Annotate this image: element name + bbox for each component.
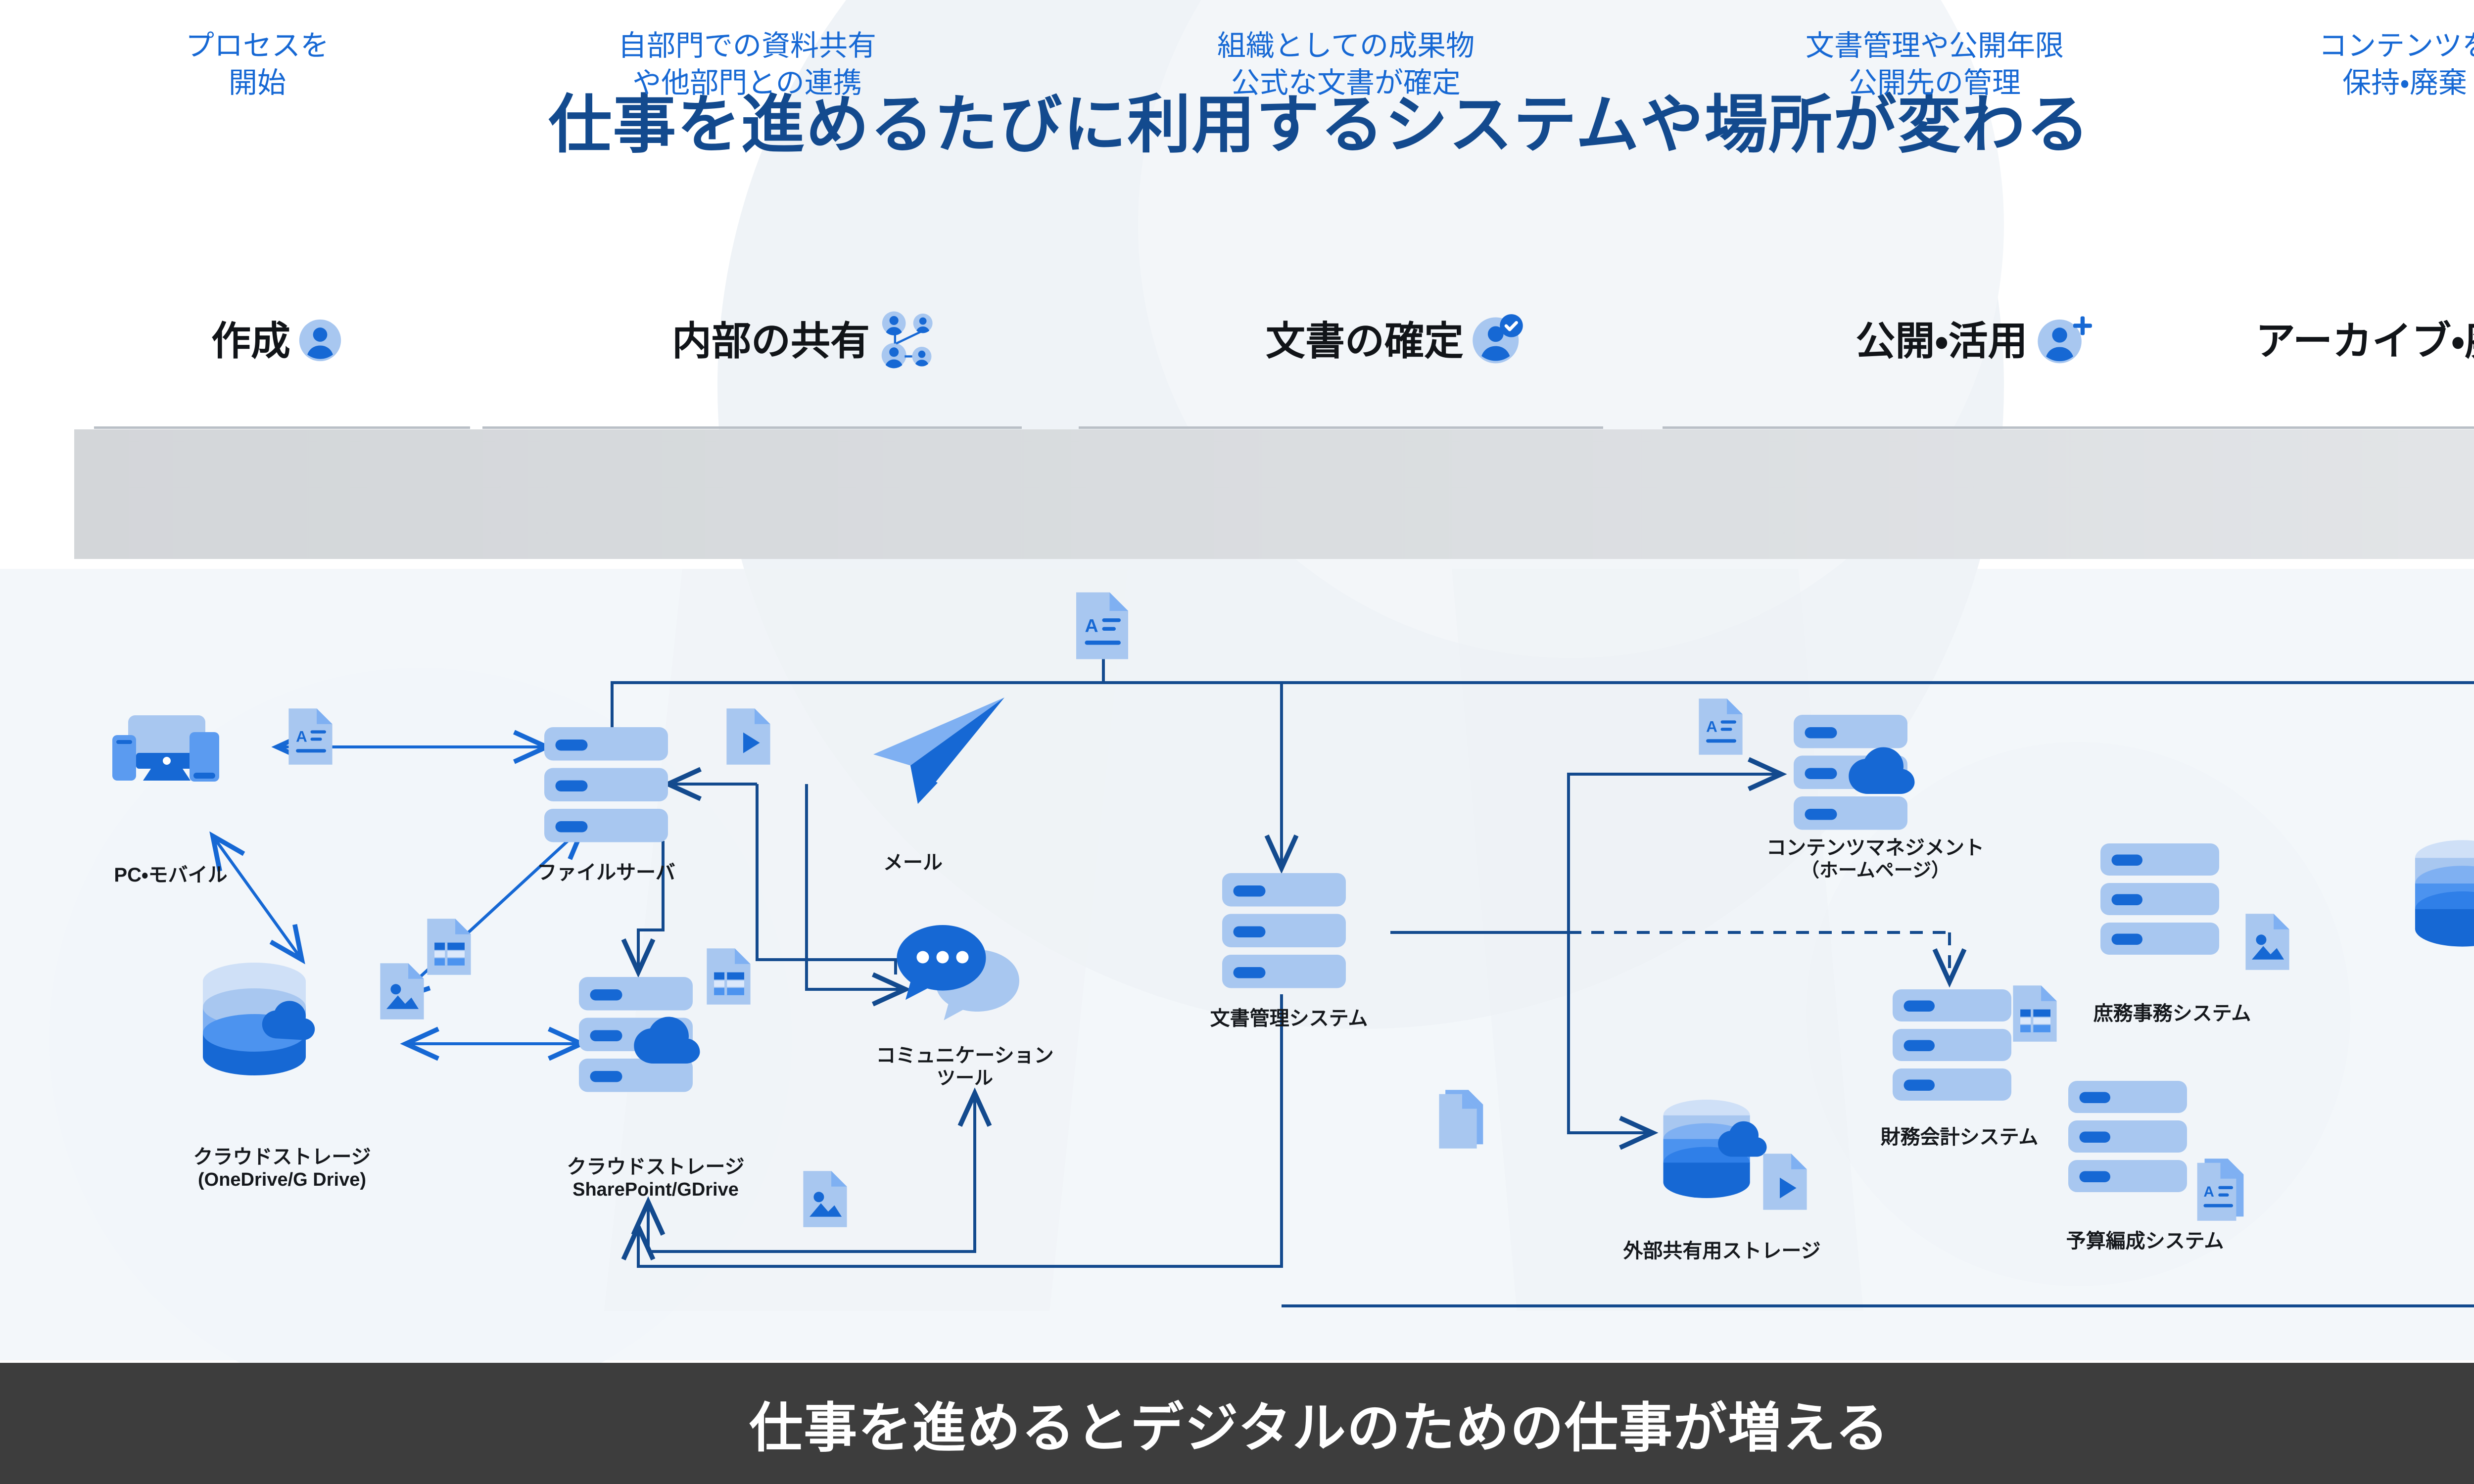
connector-layer: [0, 0, 2474, 1484]
file-icon-doc-video-mid: [722, 705, 774, 771]
svg-text:A: A: [296, 728, 307, 745]
wire-to-doc-mgmt: [1103, 683, 1282, 868]
node-label-mail: メール: [844, 851, 982, 875]
node-cloud-storage-onedrive[interactable]: [193, 960, 341, 1086]
cloud-database-icon: [193, 1077, 341, 1085]
file-icon-doc-image-bottom: [799, 1167, 851, 1233]
node-budget-system[interactable]: [2066, 1078, 2189, 1200]
node-label-file-server: ファイルサーバ: [512, 861, 700, 884]
server-icon: [2098, 953, 2222, 962]
footer-banner: 仕事を進めるとデジタルのための仕事が増える: [0, 1363, 2474, 1484]
node-label-pc-mobile: PC・モバイル: [87, 863, 255, 887]
svg-text:A: A: [2203, 1184, 2214, 1200]
server-icon: [2066, 1191, 2189, 1199]
wire-top-spine: [1103, 627, 2474, 821]
file-icon-doc-text-budget: A: [2192, 1155, 2249, 1226]
node-archive-database[interactable]: [2407, 836, 2474, 957]
node-label-external-share-storage: 外部共有用ストレージ: [1593, 1239, 1851, 1263]
wire-docmgmt-to-external: [1569, 932, 1653, 1133]
node-label-document-management-system: 文書管理システム: [1175, 1007, 1403, 1030]
file-icon-doc-sheet-left: [423, 915, 475, 981]
server-icon: [1220, 985, 1348, 994]
node-mail[interactable]: [861, 693, 1009, 814]
node-label-budget-system: 予算編成システム: [2021, 1229, 2269, 1253]
node-general-affairs-system[interactable]: [2098, 841, 2222, 962]
node-label-cloud-storage-onedrive: クラウドストレージ (OneDrive/G Drive): [153, 1145, 411, 1192]
slide-canvas: 仕事を進めるたびに利用するシステムや場所が変わる 作成 内部の共有: [0, 0, 2474, 1484]
wire-top-to-file-server: [612, 683, 1103, 730]
chat-bubbles-icon: [896, 1020, 1024, 1028]
server-icon: [1890, 1099, 2014, 1108]
node-communication-tool[interactable]: [896, 920, 1024, 1029]
svg-text:A: A: [1085, 615, 1098, 636]
node-label-communication-tool: コミュニケーション ツール: [831, 1044, 1098, 1090]
node-cloud-storage-sharepoint[interactable]: [576, 974, 708, 1101]
node-label-content-management-system: コンテンツマネジメント （ホームページ）: [1707, 836, 2044, 882]
file-icon-doc-video-external: [1759, 1150, 1811, 1216]
file-icon-doc-text-top: A: [1071, 589, 1133, 665]
wire-cloud1-to-pc: [213, 836, 302, 960]
database-key-icon: [2407, 948, 2474, 957]
node-content-management-system[interactable]: [1791, 712, 1922, 838]
node-label-finance-accounting-system: 財務会計システム: [1836, 1125, 2083, 1149]
devices-icon: [106, 800, 235, 808]
file-icon-doc-text-left: A: [285, 705, 336, 771]
file-icon-doc-text-cms: A: [1695, 695, 1747, 761]
svg-text:A: A: [1706, 718, 1717, 736]
footer-text: 仕事を進めるとデジタルのための仕事が増える: [749, 1385, 1890, 1462]
file-icon-doc-sheet-finance: [2009, 982, 2061, 1048]
cloud-server-icon: [576, 1092, 708, 1100]
node-finance-accounting-system[interactable]: [1890, 987, 2014, 1108]
server-icon: [542, 839, 670, 848]
file-icon-doc-sheet-mid: [703, 945, 755, 1011]
node-file-server[interactable]: [542, 725, 670, 848]
node-document-management-system[interactable]: [1220, 871, 1348, 994]
node-label-general-affairs-system: 庶務事務システム: [2048, 1002, 2296, 1025]
wire-docmgmt-loop-left: [638, 994, 1282, 1266]
file-icon-doc-stack-center: [1435, 1086, 1489, 1155]
node-label-cloud-storage-sharepoint: クラウドストレージ SharePoint/GDrive: [532, 1155, 779, 1202]
node-pc-mobile[interactable]: [106, 707, 235, 809]
file-icon-doc-image-left: [376, 960, 428, 1025]
file-icon-doc-image-ga: [2241, 910, 2293, 976]
paper-plane-icon: [861, 805, 1009, 813]
